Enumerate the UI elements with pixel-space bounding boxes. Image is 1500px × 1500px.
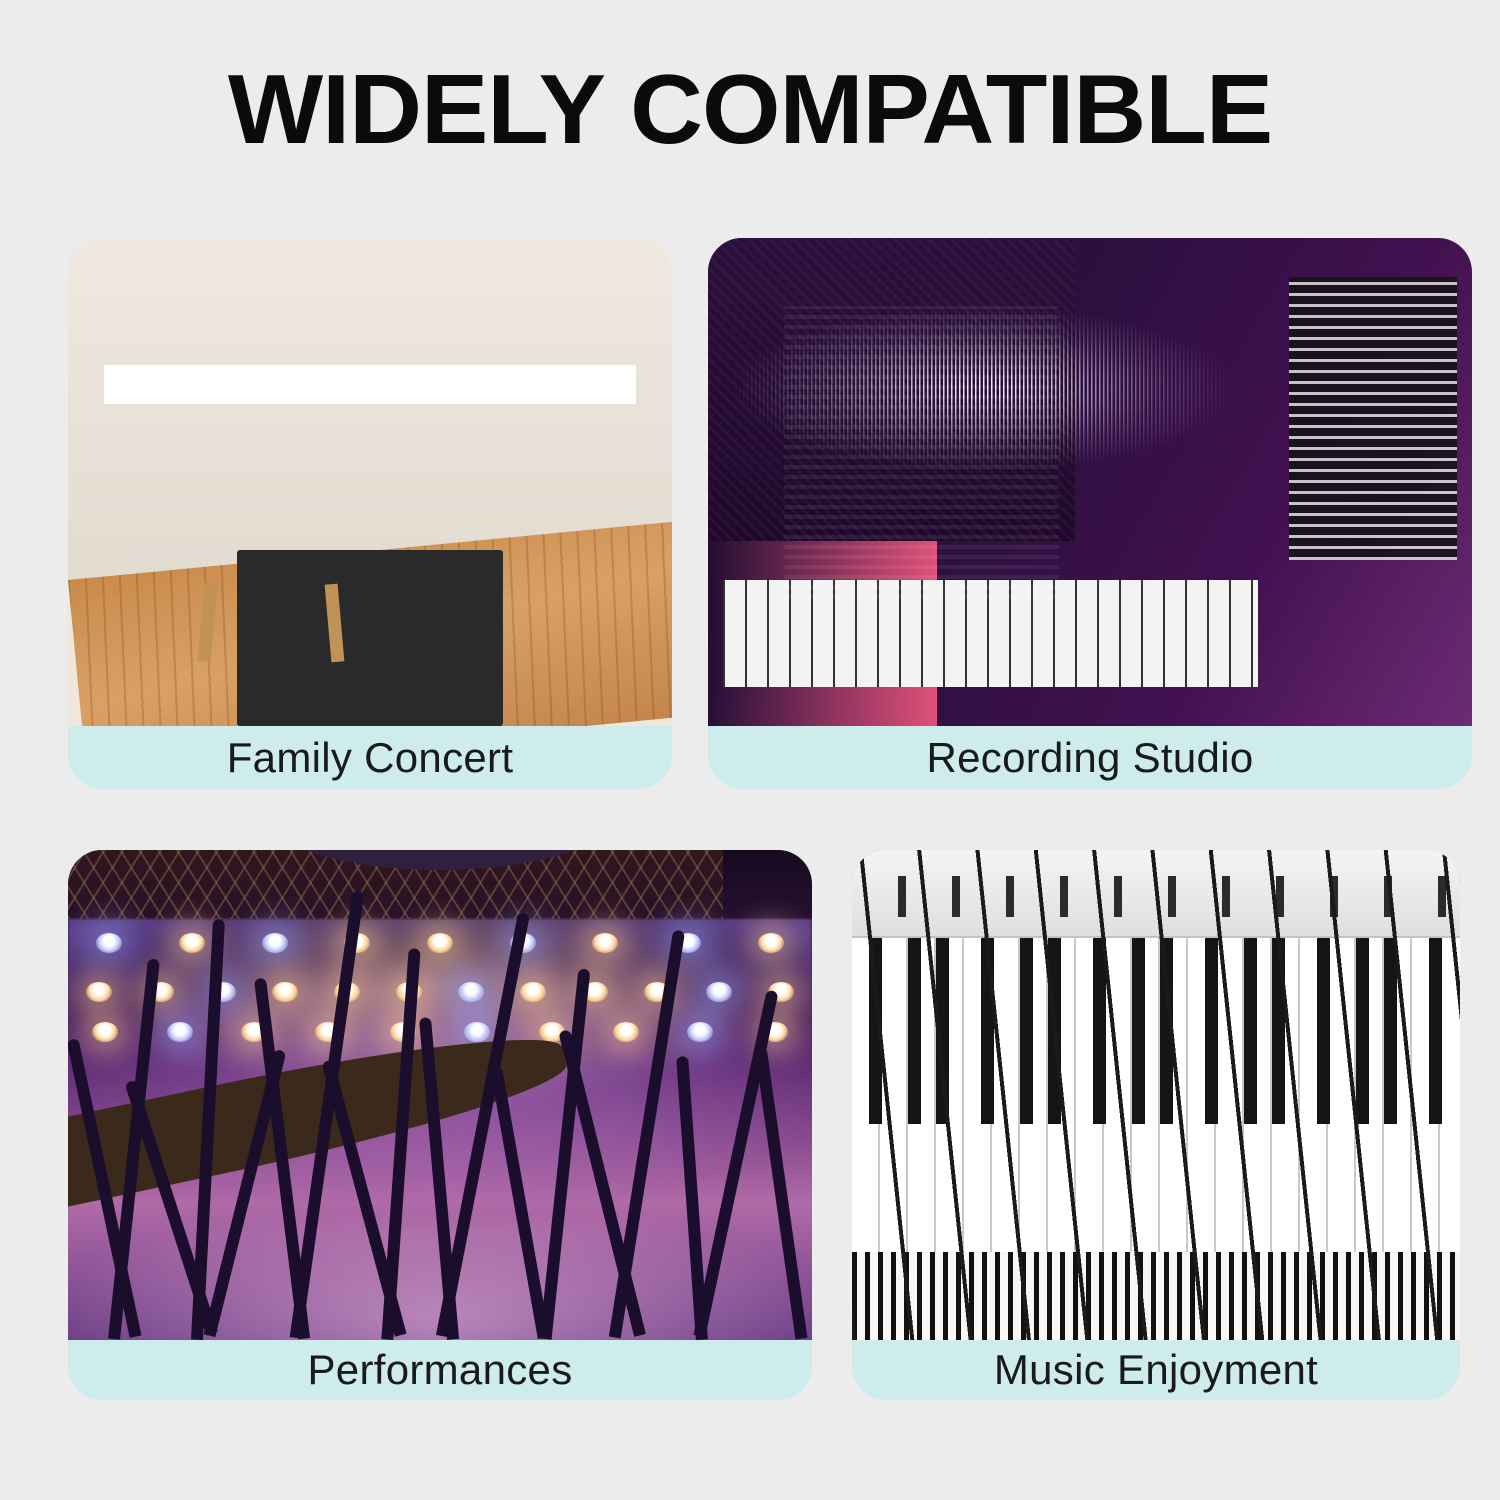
photo-music-enjoyment xyxy=(852,850,1460,1340)
daw-track-list xyxy=(1289,277,1457,560)
scene-attic-guitarist xyxy=(68,238,672,726)
photo-family-concert xyxy=(68,238,672,726)
scene-concert-stage xyxy=(68,850,812,1340)
scene-home-studio xyxy=(852,850,1460,1340)
spotlight-row-middle xyxy=(68,982,812,1002)
caption-performances: Performances xyxy=(68,1340,812,1400)
photo-recording-studio xyxy=(708,238,1472,726)
card-recording-studio[interactable]: Recording Studio xyxy=(708,238,1472,789)
photo-performances xyxy=(68,850,812,1340)
scene-recording-studio xyxy=(708,238,1472,726)
spotlight-row-top xyxy=(68,933,812,953)
caption-family-concert: Family Concert xyxy=(68,726,672,789)
wall xyxy=(68,238,672,580)
card-music-enjoyment[interactable]: Music Enjoyment xyxy=(852,850,1460,1400)
card-performances[interactable]: Performances xyxy=(68,850,812,1400)
caption-recording-studio: Recording Studio xyxy=(708,726,1472,789)
card-family-concert[interactable]: Family Concert xyxy=(68,238,672,789)
caption-music-enjoyment: Music Enjoyment xyxy=(852,1340,1460,1400)
page-title: WIDELY COMPATIBLE xyxy=(0,58,1500,161)
spotlight-row-bottom xyxy=(68,1022,812,1042)
